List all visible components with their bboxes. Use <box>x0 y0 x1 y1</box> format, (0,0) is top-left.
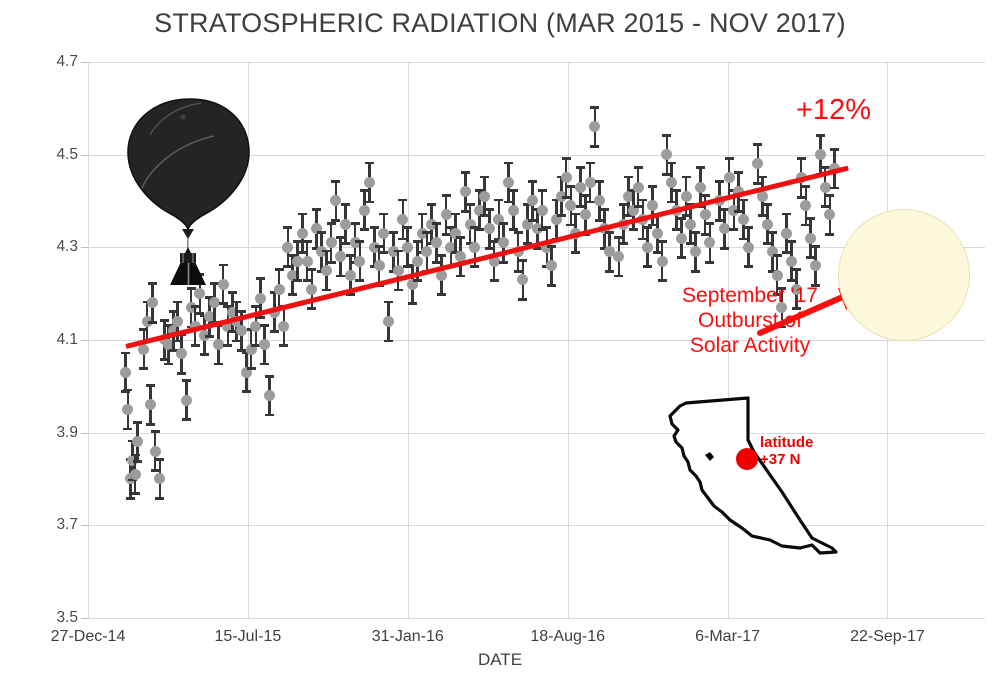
error-bar-cap-top <box>528 180 537 183</box>
data-point-marker <box>517 274 528 285</box>
error-bar-cap-top <box>307 268 316 271</box>
plot-area: 3.53.73.94.14.34.54.727-Dec-1415-Jul-153… <box>88 62 985 618</box>
data-point-marker <box>150 446 161 457</box>
error-bar-cap-top <box>499 222 508 225</box>
error-bar-cap-bottom <box>456 275 465 278</box>
error-bar-cap-top <box>792 268 801 271</box>
error-bar-cap-bottom <box>270 330 279 333</box>
error-bar-cap-top <box>696 166 705 169</box>
error-bar-cap-top <box>384 301 393 304</box>
error-bar-cap-bottom <box>744 265 753 268</box>
data-point-marker <box>236 325 247 336</box>
error-bar-cap-top <box>691 231 700 234</box>
data-point-marker <box>421 246 432 257</box>
error-bar-cap-bottom <box>705 261 714 264</box>
error-bar-cap-bottom <box>260 363 269 366</box>
error-bar-cap-top <box>705 222 714 225</box>
error-bar-cap-top <box>739 199 748 202</box>
error-bar-cap-top <box>312 208 321 211</box>
data-point-marker <box>815 149 826 160</box>
error-bar-cap-top <box>682 176 691 179</box>
error-bar-cap-top <box>504 162 513 165</box>
data-point-marker <box>172 316 183 327</box>
error-bar-cap-top <box>758 176 767 179</box>
data-point-marker <box>378 228 389 239</box>
error-bar-cap-top <box>485 208 494 211</box>
error-bar-cap-bottom <box>200 353 209 356</box>
error-bar-cap-bottom <box>191 344 200 347</box>
error-bar-cap-top <box>394 250 403 253</box>
error-bar-cap-bottom <box>720 247 729 250</box>
error-bar-cap-top <box>825 194 834 197</box>
error-bar-cap-bottom <box>146 423 155 426</box>
error-bar-cap-top <box>797 157 806 160</box>
y-tick-label: 4.7 <box>16 53 78 71</box>
error-bar-cap-top <box>806 217 815 220</box>
error-bar-cap-bottom <box>825 233 834 236</box>
data-point-marker <box>181 395 192 406</box>
error-bar-cap-bottom <box>470 265 479 268</box>
error-bar-cap-bottom <box>547 284 556 287</box>
data-point-marker <box>652 228 663 239</box>
error-bar-cap-top <box>542 226 551 229</box>
data-point-marker <box>537 205 548 216</box>
data-point-marker <box>820 182 831 193</box>
data-point-marker <box>738 214 749 225</box>
y-tick-label: 4.1 <box>16 331 78 349</box>
error-bar-cap-bottom <box>365 201 374 204</box>
x-tick-label: 18-Aug-16 <box>483 628 653 646</box>
data-point-marker <box>810 260 821 271</box>
error-bar-cap-top <box>327 222 336 225</box>
error-bar-cap-top <box>782 213 791 216</box>
data-point-marker <box>546 260 557 271</box>
data-point-marker <box>527 195 538 206</box>
data-point-marker <box>647 200 658 211</box>
error-bar-cap-top <box>121 352 130 355</box>
error-bar-cap-top <box>648 185 657 188</box>
data-point-marker <box>676 233 687 244</box>
error-bar-cap-top <box>123 389 132 392</box>
percent-increase-label: +12% <box>796 94 871 127</box>
data-point-marker <box>130 469 141 480</box>
y-tick-mark <box>81 155 88 156</box>
data-point-marker <box>393 265 404 276</box>
data-point-marker <box>786 256 797 267</box>
error-bar-cap-top <box>571 213 580 216</box>
data-point-marker <box>359 205 370 216</box>
error-bar-cap-bottom <box>256 316 265 319</box>
error-bar-cap-top <box>763 203 772 206</box>
error-bar-cap-top <box>753 143 762 146</box>
error-bar-cap-bottom <box>605 270 614 273</box>
error-bar-cap-top <box>432 222 441 225</box>
gridline-horizontal <box>88 433 985 434</box>
launch-site-marker <box>736 448 758 470</box>
data-point-marker <box>306 284 317 295</box>
data-point-marker <box>354 256 365 267</box>
error-bar-cap-top <box>518 259 527 262</box>
data-point-marker <box>259 339 270 350</box>
error-bar-cap-top <box>677 217 686 220</box>
error-bar-cap-bottom <box>677 256 686 259</box>
gridline-vertical <box>568 62 569 618</box>
gridline-horizontal <box>88 525 985 526</box>
error-bar-cap-top <box>816 134 825 137</box>
error-bar-cap-top <box>643 226 652 229</box>
chart-root: STRATOSPHERIC RADIATION (MAR 2015 - NOV … <box>0 0 1000 689</box>
error-bar-cap-bottom <box>394 289 403 292</box>
y-tick-label: 4.3 <box>16 238 78 256</box>
error-bar-cap-bottom <box>205 335 214 338</box>
data-point-marker <box>374 260 385 271</box>
error-bar-cap-bottom <box>341 242 350 245</box>
error-bar-cap-bottom <box>518 298 527 301</box>
error-bar-cap-top <box>228 291 237 294</box>
error-bar-cap-top <box>576 166 585 169</box>
error-bar-cap-top <box>341 203 350 206</box>
gridline-vertical <box>408 62 409 618</box>
error-bar-cap-bottom <box>643 265 652 268</box>
error-bar-cap-top <box>562 157 571 160</box>
error-bar-cap-bottom <box>182 418 191 421</box>
error-bar-cap-bottom <box>177 372 186 375</box>
data-point-marker <box>297 228 308 239</box>
x-tick-label: 31-Jan-16 <box>323 628 493 646</box>
x-axis-title: DATE <box>0 650 1000 670</box>
error-bar-cap-top <box>605 231 614 234</box>
y-tick-mark <box>81 433 88 434</box>
x-tick-label: 27-Dec-14 <box>3 628 173 646</box>
error-bar-cap-bottom <box>279 344 288 347</box>
error-bar-cap-top <box>715 180 724 183</box>
chart-title: STRATOSPHERIC RADIATION (MAR 2015 - NOV … <box>0 8 1000 39</box>
error-bar-cap-top <box>182 379 191 382</box>
gridline-vertical <box>248 62 249 618</box>
error-bar-cap-bottom <box>139 367 148 370</box>
error-bar-cap-top <box>398 199 407 202</box>
error-bar-cap-bottom <box>499 261 508 264</box>
error-bar-cap-top <box>160 319 169 322</box>
error-bar-cap-top <box>275 268 284 271</box>
error-bar-cap-top <box>801 185 810 188</box>
y-tick-label: 3.5 <box>16 609 78 627</box>
error-bar-cap-bottom <box>331 219 340 222</box>
data-point-marker <box>145 399 156 410</box>
error-bar-cap-top <box>283 226 292 229</box>
data-point-marker <box>345 270 356 281</box>
data-point-marker <box>460 186 471 197</box>
data-point-marker <box>695 182 706 193</box>
error-bar-cap-top <box>331 180 340 183</box>
error-bar-cap-top <box>638 199 647 202</box>
error-bar-cap-bottom <box>307 307 316 310</box>
data-point-marker <box>642 242 653 253</box>
error-bar-cap-top <box>232 301 241 304</box>
error-bar-cap-top <box>768 231 777 234</box>
error-bar-cap-bottom <box>629 228 638 231</box>
data-point-marker <box>580 209 591 220</box>
error-bar-cap-top <box>317 231 326 234</box>
error-bar-cap-top <box>461 171 470 174</box>
data-point-marker <box>120 367 131 378</box>
data-point-marker <box>594 195 605 206</box>
error-bar-cap-top <box>155 458 164 461</box>
error-bar-cap-bottom <box>247 367 256 370</box>
data-point-marker <box>772 270 783 281</box>
error-bar-cap-top <box>173 301 182 304</box>
error-bar-cap-top <box>672 189 681 192</box>
error-bar-cap-bottom <box>360 228 369 231</box>
error-bar-cap-top <box>773 254 782 257</box>
error-bar-cap-top <box>437 254 446 257</box>
error-bar-cap-top <box>260 324 269 327</box>
error-bar-cap-top <box>547 245 556 248</box>
error-bar-cap-top <box>365 162 374 165</box>
error-bar-cap-top <box>624 176 633 179</box>
data-point-marker <box>194 288 205 299</box>
error-bar-cap-top <box>590 106 599 109</box>
error-bar-cap-top <box>451 213 460 216</box>
error-bar-cap-bottom <box>379 251 388 254</box>
error-bar-cap-top <box>427 203 436 206</box>
error-bar-cap-top <box>600 208 609 211</box>
data-point-marker <box>666 177 677 188</box>
data-point-marker <box>681 191 692 202</box>
data-point-marker <box>402 242 413 253</box>
data-point-marker <box>503 177 514 188</box>
y-tick-mark <box>81 340 88 341</box>
error-bar-cap-bottom <box>437 293 446 296</box>
error-bar-cap-bottom <box>214 363 223 366</box>
error-bar-cap-bottom <box>126 497 135 500</box>
data-point-marker <box>132 436 143 447</box>
data-point-marker <box>255 293 266 304</box>
error-bar-cap-top <box>480 176 489 179</box>
error-bar-cap-top <box>389 231 398 234</box>
data-point-marker <box>213 339 224 350</box>
y-tick-label: 3.7 <box>16 516 78 534</box>
error-bar-cap-bottom <box>355 279 364 282</box>
error-bar-cap-bottom <box>408 302 417 305</box>
error-bar-cap-bottom <box>131 492 140 495</box>
error-bar-cap-top <box>151 430 160 433</box>
error-bar-cap-top <box>830 148 839 151</box>
data-point-marker <box>441 209 452 220</box>
error-bar-cap-top <box>595 180 604 183</box>
data-point-marker <box>278 321 289 332</box>
error-bar-cap-bottom <box>830 187 839 190</box>
error-bar-cap-bottom <box>322 289 331 292</box>
y-tick-label: 4.5 <box>16 146 78 164</box>
error-bar-cap-bottom <box>242 390 251 393</box>
data-point-marker <box>383 316 394 327</box>
data-point-marker <box>589 121 600 132</box>
error-bar-cap-top <box>133 421 142 424</box>
solar-outburst-annotation: September '17 Outburst of Solar Activity <box>655 283 845 358</box>
data-point-marker <box>661 149 672 160</box>
solar-outburst-highlight <box>838 209 970 341</box>
error-bar-cap-bottom <box>413 279 422 282</box>
error-bar-cap-bottom <box>265 414 274 417</box>
data-point-marker <box>508 205 519 216</box>
gridline-vertical <box>88 62 89 618</box>
error-bar-cap-bottom <box>327 261 336 264</box>
gridline-horizontal <box>88 618 985 619</box>
data-point-marker <box>690 246 701 257</box>
error-bar-cap-top <box>355 240 364 243</box>
error-bar-cap-top <box>370 226 379 229</box>
data-point-marker <box>700 209 711 220</box>
gridline-horizontal <box>88 62 985 63</box>
error-bar-cap-top <box>265 375 274 378</box>
data-point-marker <box>752 158 763 169</box>
error-bar-cap-top <box>351 222 360 225</box>
data-point-marker <box>469 242 480 253</box>
error-bar-cap-top <box>256 277 265 280</box>
data-point-marker <box>781 228 792 239</box>
data-point-marker <box>218 279 229 290</box>
y-tick-mark <box>81 525 88 526</box>
error-bar-cap-top <box>658 240 667 243</box>
data-point-marker <box>412 256 423 267</box>
error-bar-cap-top <box>811 245 820 248</box>
error-bar-cap-bottom <box>557 214 566 217</box>
error-bar-cap-top <box>146 384 155 387</box>
data-point-marker <box>147 297 158 308</box>
error-bar-cap-bottom <box>729 228 738 231</box>
data-point-marker <box>340 219 351 230</box>
data-point-marker <box>657 256 668 267</box>
x-tick-label: 22-Sep-17 <box>802 628 972 646</box>
gridline-horizontal <box>88 155 985 156</box>
error-bar-cap-top <box>403 226 412 229</box>
error-bar-cap-top <box>237 310 246 313</box>
error-bar-cap-top <box>148 282 157 285</box>
y-tick-mark <box>81 62 88 63</box>
latitude-label: latitude +37 N <box>760 434 813 468</box>
data-point-marker <box>330 195 341 206</box>
error-bar-cap-top <box>634 166 643 169</box>
data-point-marker <box>264 390 275 401</box>
x-tick-label: 6-Mar-17 <box>643 628 813 646</box>
gridline-vertical <box>887 62 888 618</box>
error-bar-cap-top <box>667 162 676 165</box>
data-point-marker <box>122 404 133 415</box>
error-bar-cap-bottom <box>164 363 173 366</box>
data-point-marker <box>762 219 773 230</box>
error-bar-cap-bottom <box>614 275 623 278</box>
y-tick-mark <box>81 247 88 248</box>
data-point-marker <box>805 233 816 244</box>
error-bar-cap-top <box>418 213 427 216</box>
error-bar-cap-top <box>787 240 796 243</box>
data-point-marker <box>685 219 696 230</box>
error-bar-cap-bottom <box>490 279 499 282</box>
error-bar-cap-bottom <box>658 279 667 282</box>
data-point-marker <box>335 251 346 262</box>
data-point-marker <box>585 177 596 188</box>
error-bar-cap-top <box>466 203 475 206</box>
error-bar-cap-top <box>219 264 228 267</box>
data-point-marker <box>321 265 332 276</box>
error-bar-cap-bottom <box>293 279 302 282</box>
error-bar-cap-bottom <box>288 293 297 296</box>
data-point-marker <box>364 177 375 188</box>
error-bar-cap-top <box>662 134 671 137</box>
error-bar-cap-bottom <box>223 344 232 347</box>
error-bar-cap-top <box>303 240 312 243</box>
data-point-marker <box>561 172 572 183</box>
error-bar-cap-top <box>701 194 710 197</box>
data-point-marker <box>824 209 835 220</box>
data-point-marker <box>633 182 644 193</box>
error-bar-cap-top <box>514 231 523 234</box>
data-point-marker <box>176 348 187 359</box>
error-bar-cap-top <box>509 189 518 192</box>
error-bar-cap-top <box>586 162 595 165</box>
data-point-marker <box>282 242 293 253</box>
error-bar-cap-bottom <box>619 242 628 245</box>
data-point-marker <box>613 251 624 262</box>
error-bar-cap-bottom <box>133 460 142 463</box>
error-bar-cap-bottom <box>571 251 580 254</box>
error-bar-cap-top <box>744 226 753 229</box>
error-bar-cap-top <box>734 171 743 174</box>
error-bar-cap-top <box>494 199 503 202</box>
data-point-marker <box>302 256 313 267</box>
error-bar-cap-top <box>538 189 547 192</box>
data-point-marker <box>326 237 337 248</box>
data-point-marker <box>154 473 165 484</box>
error-bar-cap-top <box>195 273 204 276</box>
error-bar-cap-top <box>442 194 451 197</box>
error-bar-cap-top <box>725 157 734 160</box>
error-bar-cap-bottom <box>336 275 345 278</box>
error-bar-cap-bottom <box>384 340 393 343</box>
error-bar-cap-top <box>456 236 465 239</box>
error-bar-cap-bottom <box>123 428 132 431</box>
data-point-marker <box>724 172 735 183</box>
error-bar-cap-top <box>298 213 307 216</box>
data-point-marker <box>484 223 495 234</box>
data-point-marker <box>743 242 754 253</box>
error-bar-cap-bottom <box>691 270 700 273</box>
x-tick-label: 15-Jul-15 <box>163 628 333 646</box>
error-bar-cap-bottom <box>155 497 164 500</box>
error-bar-cap-bottom <box>475 228 484 231</box>
data-point-marker <box>479 191 490 202</box>
data-point-marker <box>800 200 811 211</box>
y-tick-mark <box>81 618 88 619</box>
y-tick-label: 3.9 <box>16 424 78 442</box>
error-bar-cap-bottom <box>590 145 599 148</box>
data-point-marker <box>274 284 285 295</box>
data-point-marker <box>565 200 576 211</box>
error-bar-cap-top <box>379 213 388 216</box>
error-bar-cap-bottom <box>148 321 157 324</box>
